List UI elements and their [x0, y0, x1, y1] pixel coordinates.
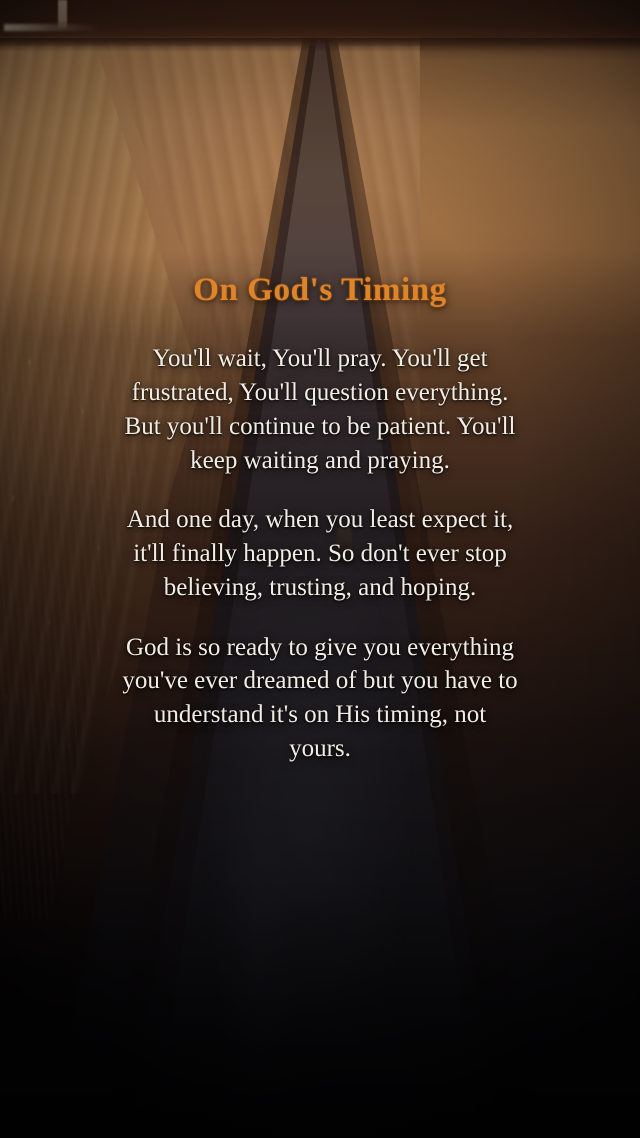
quote-graphic: On God's Timing You'll wait, You'll pray… — [0, 0, 640, 1138]
quote-overlay: On God's Timing You'll wait, You'll pray… — [0, 0, 640, 1138]
quote-title: On God's Timing — [193, 272, 447, 308]
quote-paragraph: God is so ready to give you everything y… — [120, 631, 520, 766]
quote-paragraph: You'll wait, You'll pray. You'll get fru… — [120, 342, 520, 477]
quote-body: You'll wait, You'll pray. You'll get fru… — [120, 342, 520, 765]
quote-paragraph: And one day, when you least expect it, i… — [120, 503, 520, 604]
